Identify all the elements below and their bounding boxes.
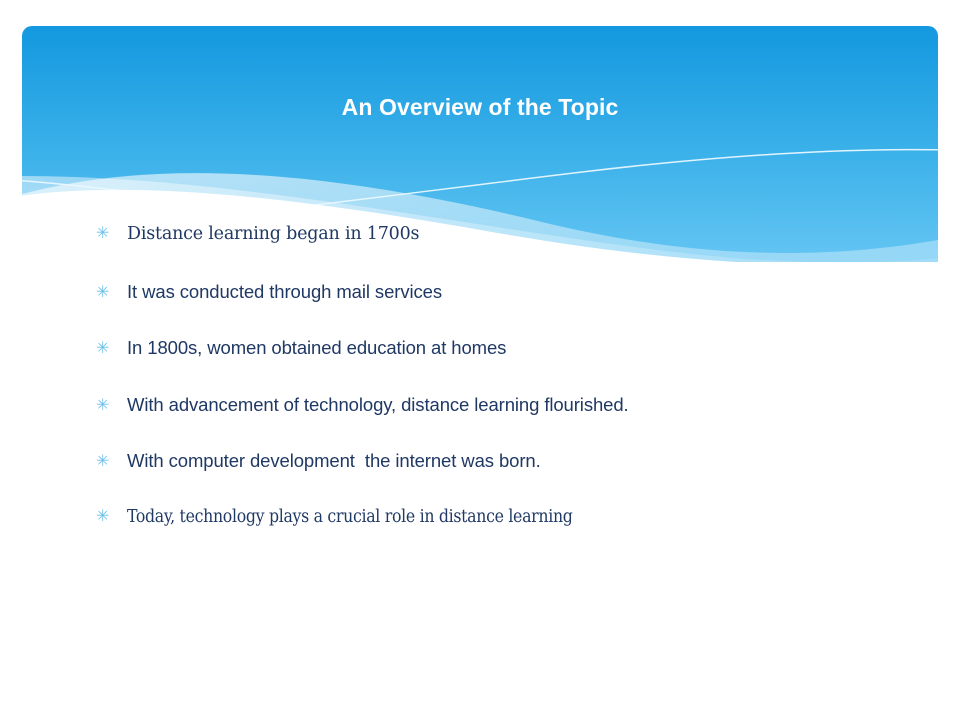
slide-title: An Overview of the Topic	[22, 92, 938, 122]
list-item-label: Today, technology plays a crucial role i…	[127, 507, 916, 527]
asterisk-bullet-icon: ✳	[96, 397, 127, 413]
list-item: ✳ With computer development the internet…	[96, 450, 916, 507]
list-item-label: With advancement of technology, distance…	[127, 394, 916, 416]
asterisk-bullet-icon: ✳	[96, 340, 127, 356]
asterisk-bullet-icon: ✳	[96, 508, 127, 524]
bullet-list: ✳ Distance learning began in 1700s ✳ It …	[96, 224, 916, 563]
list-item: ✳ It was conducted through mail services	[96, 281, 916, 338]
list-item: ✳ With advancement of technology, distan…	[96, 394, 916, 451]
list-item: ✳ Distance learning began in 1700s	[96, 224, 916, 281]
list-item: ✳ Today, technology plays a crucial role…	[96, 507, 916, 564]
list-item-label: Distance learning began in 1700s	[127, 224, 916, 244]
list-item: ✳ In 1800s, women obtained education at …	[96, 337, 916, 394]
asterisk-bullet-icon: ✳	[96, 225, 127, 241]
asterisk-bullet-icon: ✳	[96, 453, 127, 469]
list-item-label: It was conducted through mail services	[127, 281, 916, 303]
list-item-label: In 1800s, women obtained education at ho…	[127, 337, 916, 359]
list-item-label: With computer development the internet w…	[127, 450, 916, 472]
slide: An Overview of the Topic ✳ Distance lear…	[0, 0, 960, 720]
asterisk-bullet-icon: ✳	[96, 284, 127, 300]
